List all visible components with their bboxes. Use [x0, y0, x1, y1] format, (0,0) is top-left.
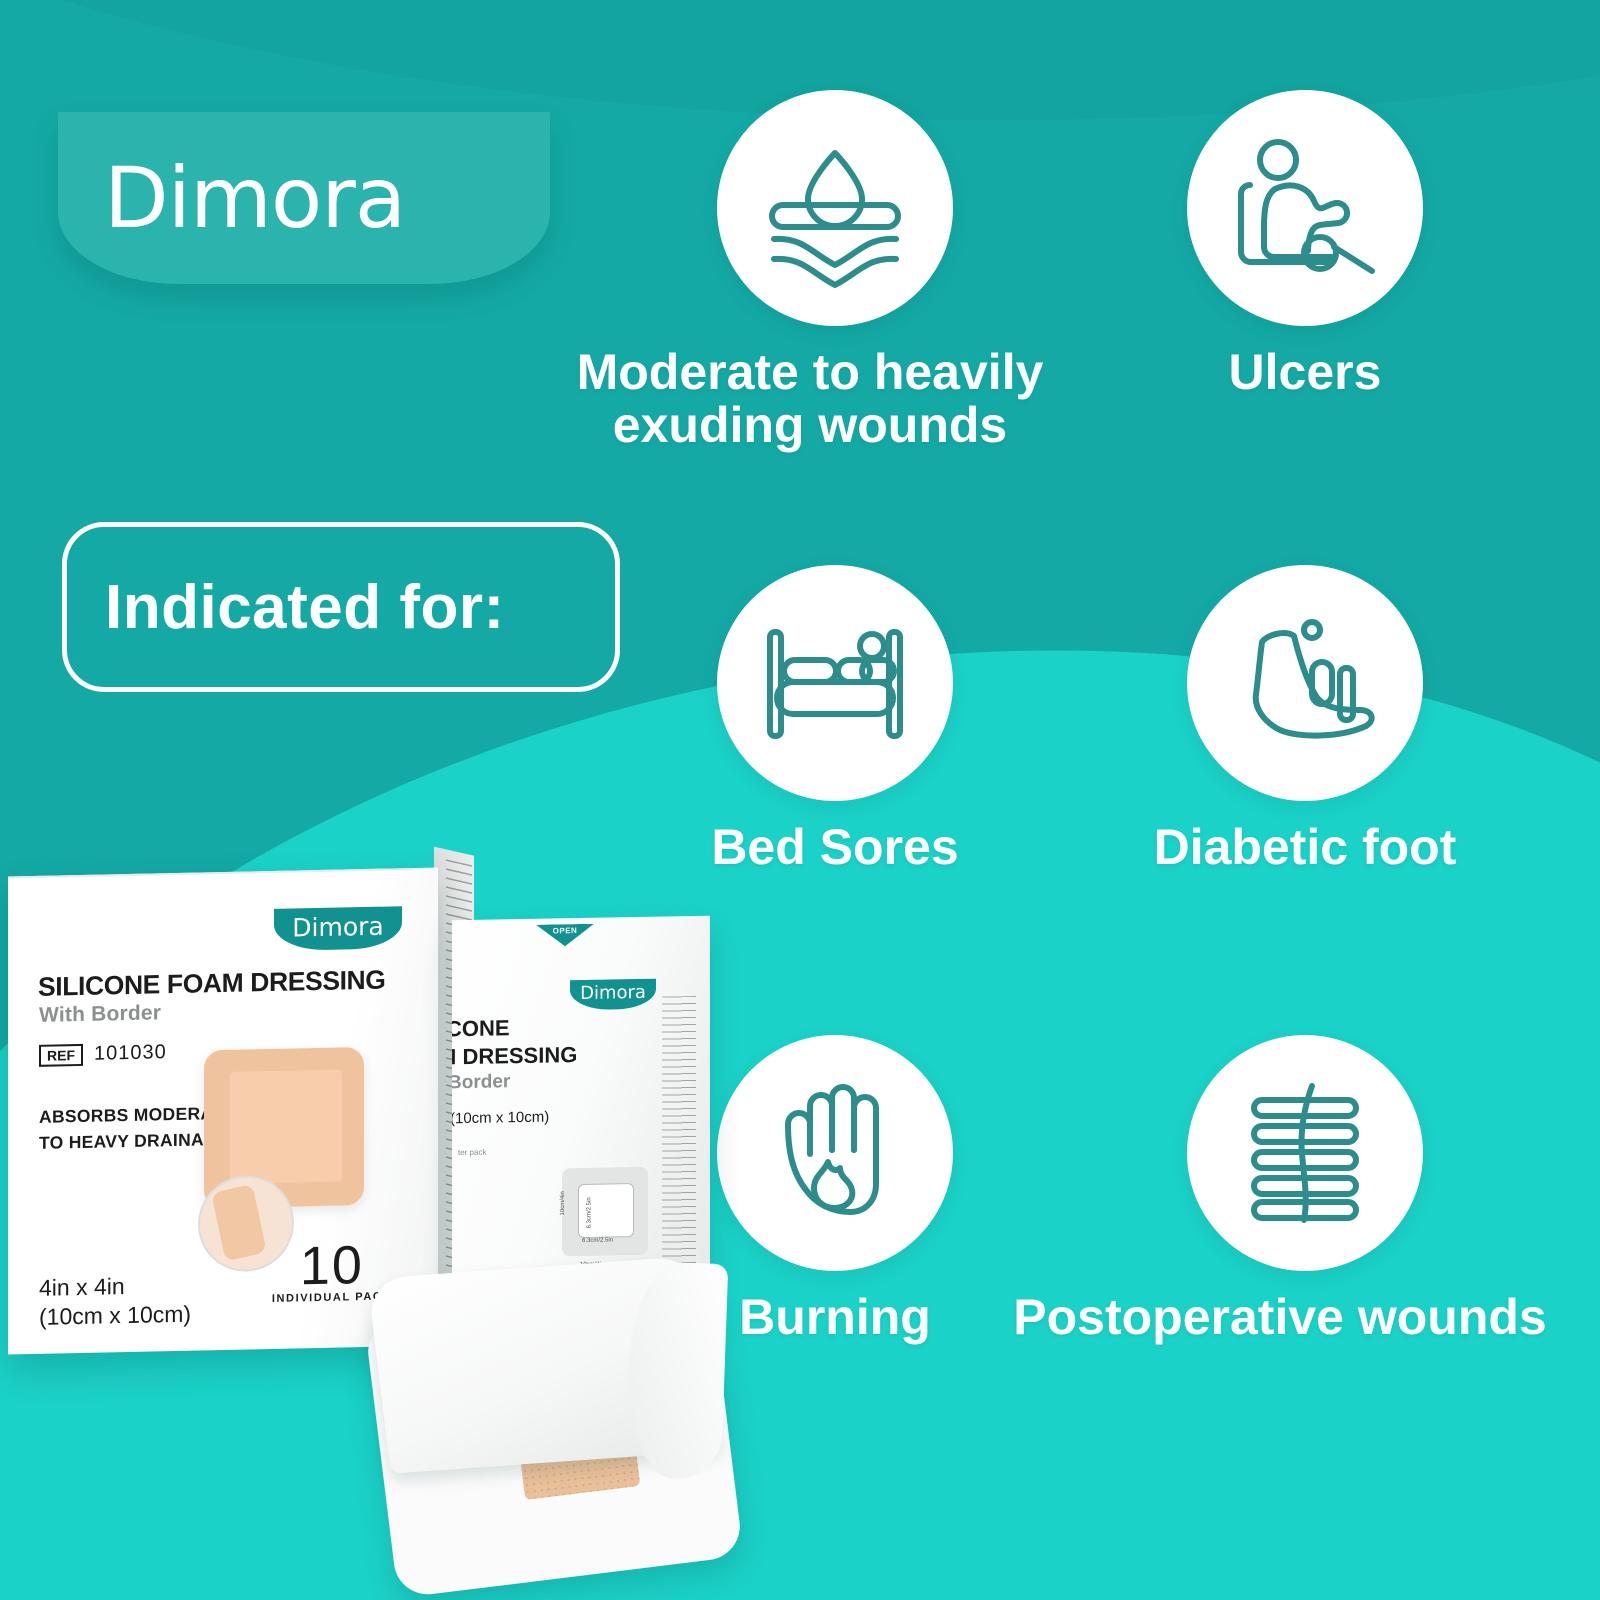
- indicated-for-heading: Indicated for:: [105, 572, 505, 643]
- feature-label-postoperative-wounds: Postoperative wounds: [970, 1291, 1590, 1344]
- indicated-for-box: Indicated for:: [62, 522, 620, 692]
- feature-grid: Moderate to heavily exuding wounds Ulcer…: [600, 90, 1560, 1510]
- feature-label-diabetic-foot: Diabetic foot: [1045, 821, 1565, 874]
- carton-front-face: Dimora SILICONE FOAM DRESSING With Borde…: [8, 867, 438, 1354]
- infographic-canvas: Dimora Indicated for: Moderate to heavil…: [0, 0, 1600, 1600]
- carton-product-subtitle: With Border: [39, 1001, 161, 1028]
- carton-product-title: SILICONE FOAM DRESSING: [38, 965, 386, 1003]
- feature-label-bed-sores: Bed Sores: [575, 821, 1095, 874]
- sachet-brand-logo: Dimora: [570, 979, 656, 1011]
- sachet-dim-outer-height: 10cm/4in: [560, 1191, 566, 1215]
- feature-item-bed-sores: Bed Sores: [600, 565, 1070, 874]
- carton-count-number: 10: [272, 1240, 392, 1292]
- carton-size-block: 4in x 4in (10cm x 10cm): [39, 1271, 191, 1333]
- bed-patient-icon: [717, 565, 953, 801]
- surgical-sutures-icon: [1187, 1035, 1423, 1271]
- carton-ref-number: 101030: [94, 1041, 167, 1066]
- brand-banner: Dimora: [58, 112, 550, 284]
- carton-count-block: 10 INDIVIDUAL PACK: [272, 1240, 392, 1304]
- sachet-title-line1: CONE: [452, 1015, 510, 1042]
- brand-name: Dimora: [104, 156, 405, 240]
- hand-flame-icon: [717, 1035, 953, 1271]
- feature-item-diabetic-foot: Diabetic foot: [1070, 565, 1540, 874]
- droplet-on-layers-icon: [717, 90, 953, 326]
- sachet-fine-print: ter pack: [458, 1148, 486, 1157]
- carton-brand-logo: Dimora: [274, 906, 402, 951]
- person-reclining-chair-icon: [1187, 90, 1423, 326]
- feature-item-ulcers: Ulcers: [1070, 90, 1540, 399]
- carton-top-flap: [9, 867, 438, 878]
- sachet-open-tab: OPEN: [536, 924, 594, 947]
- foot-profile-icon: [1187, 565, 1423, 801]
- carton-ref-block: REF 101030: [39, 1041, 167, 1067]
- feature-label-ulcers: Ulcers: [1045, 346, 1565, 399]
- sachet-size-metric: (10cm x 10cm): [452, 1109, 549, 1128]
- carton-size-metric: (10cm x 10cm): [39, 1300, 191, 1333]
- feature-item-exuding-wounds: Moderate to heavily exuding wounds: [600, 90, 1070, 452]
- loose-dressing-product: [364, 1280, 743, 1598]
- sachet-title-line2: M DRESSING: [452, 1042, 577, 1070]
- feature-label-exuding-wounds: Moderate to heavily exuding wounds: [500, 346, 1120, 452]
- sachet-subtitle: Border: [452, 1071, 510, 1094]
- product-carton: Dimora SILICONE FOAM DRESSING With Borde…: [8, 867, 438, 1354]
- carton-size-imperial: 4in x 4in: [39, 1271, 191, 1304]
- feature-item-postoperative-wounds: Postoperative wounds: [1070, 1035, 1540, 1344]
- carton-ref-tag: REF: [39, 1043, 83, 1066]
